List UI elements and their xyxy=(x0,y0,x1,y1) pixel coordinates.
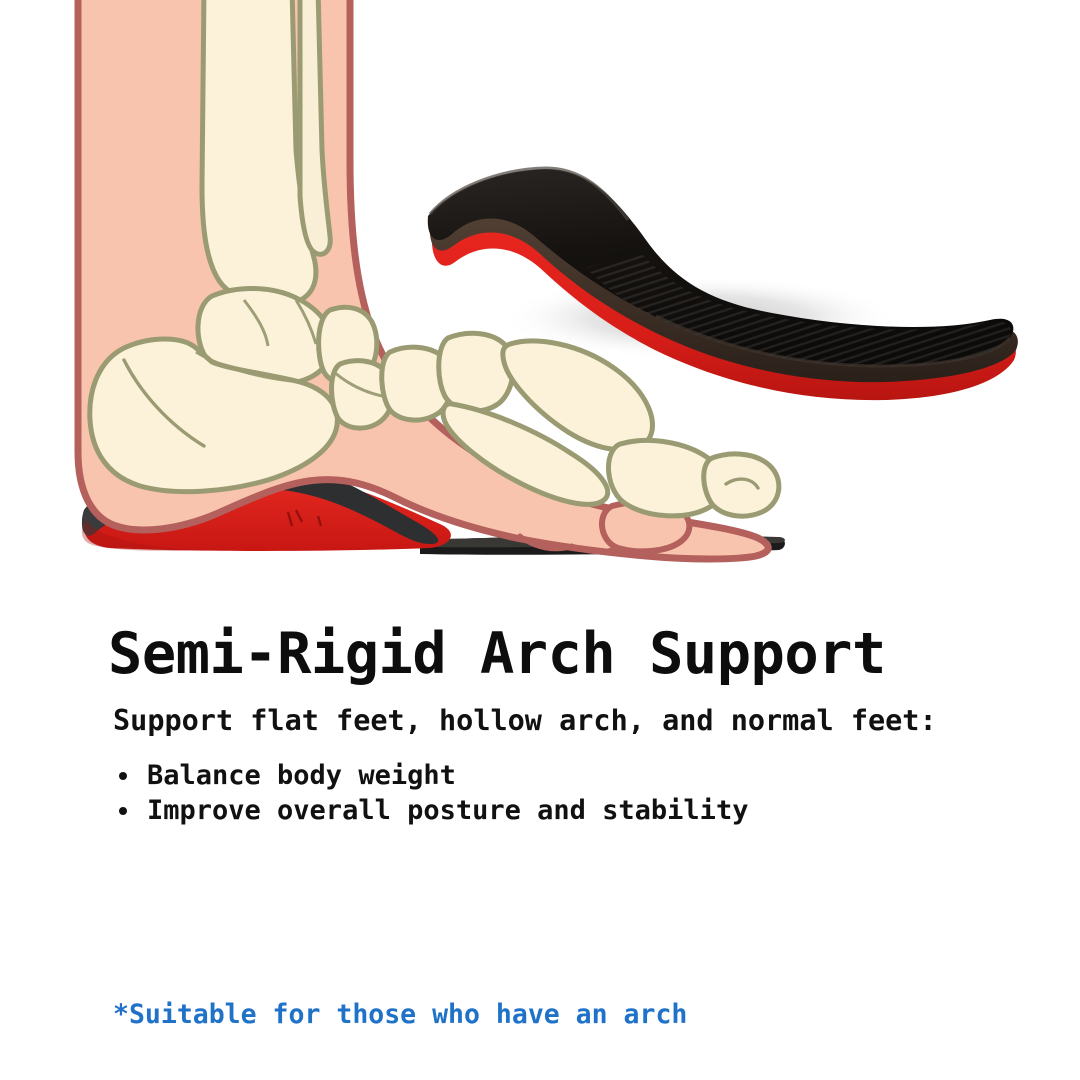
suitability-note-line-1: *Suitable for those who have an arch xyxy=(113,999,687,1030)
benefits-list: Balance body weight Improve overall post… xyxy=(113,760,748,830)
foot-anatomy-illustration xyxy=(0,0,1080,600)
page-title: Semi-Rigid Arch Support xyxy=(108,622,886,688)
phalanx-distal xyxy=(704,454,779,516)
product-infographic-page: Semi-Rigid Arch Support Support flat fee… xyxy=(0,0,1080,1080)
list-item: Improve overall posture and stability xyxy=(113,795,748,826)
cuneiform-3 xyxy=(439,333,513,411)
list-item-label: Improve overall posture and stability xyxy=(147,795,748,826)
subtitle: Support flat feet, hollow arch, and norm… xyxy=(113,704,937,737)
bullet-dot-icon xyxy=(119,807,127,815)
suitability-note: *Suitable for those who have an arch hei… xyxy=(113,937,687,1080)
bullet-dot-icon xyxy=(119,772,127,780)
list-item: Balance body weight xyxy=(113,760,748,791)
list-item-label: Balance body weight xyxy=(147,760,456,791)
text-content-block: Semi-Rigid Arch Support Support flat fee… xyxy=(0,600,1080,1080)
